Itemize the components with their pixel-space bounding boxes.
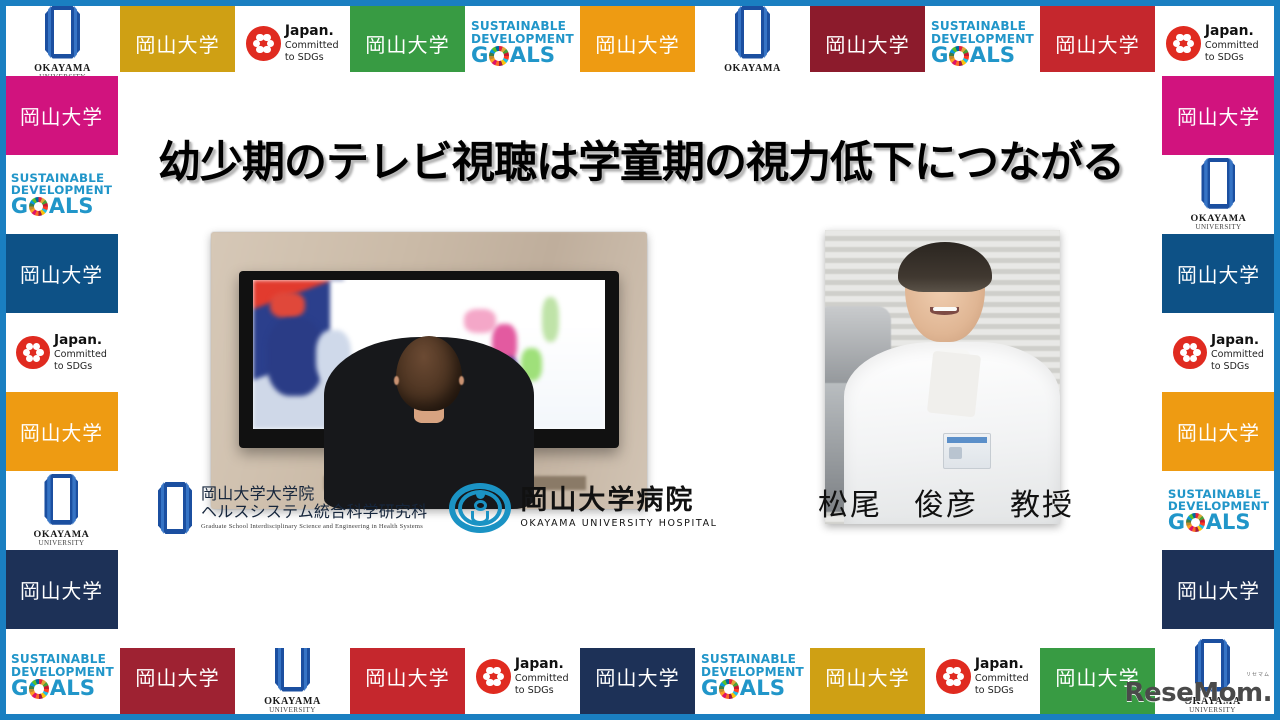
japan-sdgs-logo-icon: Japan.Committedto SDGs: [1166, 23, 1258, 64]
graduate-school-line1: 岡山大学大学院: [201, 485, 427, 503]
tile-label: 岡山大学: [1177, 259, 1260, 288]
okayama-university-subcaption: UNIVERSITY: [269, 707, 316, 714]
slide-title: 幼少期のテレビ視聴は学童期の視力低下につながる: [136, 128, 1146, 190]
japan-sdgs-logo-icon: Japan.Committedto SDGs: [476, 656, 568, 697]
okayama-university-icon: OKAYAMAUNIVERSITY: [264, 639, 321, 714]
border-tile-bottom-1: 岡山大学: [120, 639, 235, 714]
sdg-logo-icon: SUSTAINABLEDEVELOPMENTGALS: [11, 172, 112, 218]
japan-sdgs-logo-icon: Japan.Committedto SDGs: [1173, 332, 1264, 373]
tile-label: 岡山大学: [595, 662, 679, 691]
hospital-name-jp: 岡山大学病院: [520, 487, 717, 515]
child-watching-tv-photo: [211, 232, 647, 509]
tile-label: 岡山大学: [365, 29, 449, 58]
border-tile-top-7: 岡山大学: [810, 6, 925, 81]
japan-sdgs-logo-icon: Japan.Committedto SDGs: [246, 23, 338, 64]
border-tile-bottom-2: OKAYAMAUNIVERSITY: [235, 639, 350, 714]
sakura-icon: [16, 336, 50, 370]
border-tile-left-0: 岡山大学: [5, 76, 118, 155]
tile-label: 岡山大学: [1177, 417, 1260, 446]
sdg-logo-icon: SUSTAINABLEDEVELOPMENTGALS: [11, 653, 114, 699]
sdg-logo-icon: SUSTAINABLEDEVELOPMENTGALS: [931, 20, 1034, 66]
tile-label: 岡山大学: [135, 662, 219, 691]
tile-label: 岡山大学: [135, 29, 219, 58]
border-tile-bottom-4: Japan.Committedto SDGs: [465, 639, 580, 714]
sdg-logo-icon: SUSTAINABLEDEVELOPMENTGALS: [1168, 488, 1269, 534]
border-tile-top-5: 岡山大学: [580, 6, 695, 81]
child-head: [396, 336, 463, 412]
sakura-icon: [1166, 26, 1201, 61]
watermark-sub: リセマム: [1246, 671, 1270, 678]
japan-sdgs-logo-icon: Japan.Committedto SDGs: [16, 332, 107, 373]
tile-label: 岡山大学: [365, 662, 449, 691]
border-tile-top-0: OKAYAMAUNIVERSITY: [5, 6, 120, 81]
border-tile-right-2: 岡山大学: [1162, 234, 1275, 313]
sdg-color-wheel-icon: [719, 679, 739, 699]
tile-label: 岡山大学: [20, 575, 103, 604]
border-tile-bottom-6: SUSTAINABLEDEVELOPMENTGALS: [695, 639, 810, 714]
tile-label: 岡山大学: [20, 417, 103, 446]
frame-top-edge: [0, 0, 1280, 6]
sdg-color-wheel-icon: [29, 679, 49, 699]
id-badge: [943, 433, 991, 469]
border-tile-left-4: 岡山大学: [5, 392, 118, 471]
watermark-text: ReseMom.: [1125, 678, 1272, 708]
tile-label: 岡山大学: [595, 29, 679, 58]
sdg-color-wheel-icon: [29, 197, 48, 216]
border-tile-top-10: Japan.Committedto SDGs: [1155, 6, 1270, 81]
border-tile-right-1: OKAYAMAUNIVERSITY: [1162, 155, 1275, 234]
slide-canvas: OKAYAMAUNIVERSITY岡山大学Japan.Committedto S…: [0, 0, 1280, 720]
sakura-icon: [936, 659, 971, 694]
japan-sdgs-logo-icon: Japan.Committedto SDGs: [936, 656, 1028, 697]
sdg-color-wheel-icon: [1186, 513, 1205, 532]
graduate-school-line2: ヘルスシステム統合科学研究科: [201, 503, 427, 521]
resemom-watermark: リセマム ReseMom.: [1125, 678, 1272, 708]
tile-label: 岡山大学: [825, 662, 909, 691]
okayama-university-icon: OKAYAMAUNIVERSITY: [34, 6, 91, 81]
tile-label: 岡山大学: [1177, 101, 1260, 130]
graduate-school-logo: 岡山大学大学院 ヘルスシステム統合科学研究科 Graduate School I…: [158, 482, 427, 534]
border-tile-left-1: SUSTAINABLEDEVELOPMENTGALS: [5, 155, 118, 234]
tile-label: 岡山大学: [20, 101, 103, 130]
okayama-university-icon: OKAYAMAUNIVERSITY: [1191, 158, 1247, 232]
border-tile-left-2: 岡山大学: [5, 234, 118, 313]
okayama-university-icon: [158, 482, 192, 534]
border-tile-right-0: 岡山大学: [1162, 76, 1275, 155]
border-tile-bottom-7: 岡山大学: [810, 639, 925, 714]
sdg-logo-icon: SUSTAINABLEDEVELOPMENTGALS: [471, 20, 574, 66]
border-tile-top-9: 岡山大学: [1040, 6, 1155, 81]
sdg-color-wheel-icon: [949, 46, 969, 66]
okayama-university-icon: OKAYAMAUNIVERSITY: [724, 6, 781, 81]
okayama-university-icon: OKAYAMAUNIVERSITY: [34, 474, 90, 548]
hospital-name-en: OKAYAMA UNIVERSITY HOSPITAL: [520, 519, 717, 529]
tile-label: 岡山大学: [825, 29, 909, 58]
border-tile-right-5: SUSTAINABLEDEVELOPMENTGALS: [1162, 471, 1275, 550]
border-tile-left-3: Japan.Committedto SDGs: [5, 313, 118, 392]
border-tile-right-3: Japan.Committedto SDGs: [1162, 313, 1275, 392]
border-tile-bottom-0: SUSTAINABLEDEVELOPMENTGALS: [5, 639, 120, 714]
institution-logo-row: 岡山大学大学院 ヘルスシステム統合科学研究科 Graduate School I…: [158, 472, 778, 544]
border-tile-top-2: Japan.Committedto SDGs: [235, 6, 350, 81]
frame-bottom-edge: [0, 714, 1280, 720]
sakura-icon: [246, 26, 281, 61]
okayama-university-hospital-logo: 岡山大学病院 OKAYAMA UNIVERSITY HOSPITAL: [449, 483, 717, 533]
professor-name-caption: 松尾 俊彦 教授: [818, 480, 1068, 524]
frame-left-edge: [0, 0, 6, 720]
hospital-mark-icon: [449, 483, 511, 533]
sakura-icon: [1173, 336, 1207, 370]
border-tile-top-1: 岡山大学: [120, 6, 235, 81]
border-tile-left-6: 岡山大学: [5, 550, 118, 629]
border-tile-bottom-3: 岡山大学: [350, 639, 465, 714]
okayama-university-subcaption: UNIVERSITY: [1195, 224, 1241, 231]
border-tile-top-4: SUSTAINABLEDEVELOPMENTGALS: [465, 6, 580, 81]
border-tile-bottom-5: 岡山大学: [580, 639, 695, 714]
border-tile-top-3: 岡山大学: [350, 6, 465, 81]
border-tile-right-6: 岡山大学: [1162, 550, 1275, 629]
sdg-logo-icon: SUSTAINABLEDEVELOPMENTGALS: [701, 653, 804, 699]
slide-content-area: 幼少期のテレビ視聴は学童期の視力低下につながる: [118, 72, 1162, 648]
tile-label: 岡山大学: [1055, 29, 1139, 58]
border-tile-bottom-8: Japan.Committedto SDGs: [925, 639, 1040, 714]
tile-label: 岡山大学: [1177, 575, 1260, 604]
border-tile-right-4: 岡山大学: [1162, 392, 1275, 471]
okayama-university-subcaption: UNIVERSITY: [38, 540, 84, 547]
border-tile-top-6: OKAYAMAUNIVERSITY: [695, 6, 810, 81]
tile-label: 岡山大学: [20, 259, 103, 288]
graduate-school-line3: Graduate School Interdisciplinary Scienc…: [201, 523, 427, 530]
sakura-icon: [476, 659, 511, 694]
sdg-color-wheel-icon: [489, 46, 509, 66]
frame-right-edge: [1274, 0, 1280, 720]
okayama-university-subcaption: UNIVERSITY: [1189, 707, 1236, 714]
border-tile-left-5: OKAYAMAUNIVERSITY: [5, 471, 118, 550]
border-tile-top-8: SUSTAINABLEDEVELOPMENTGALS: [925, 6, 1040, 81]
